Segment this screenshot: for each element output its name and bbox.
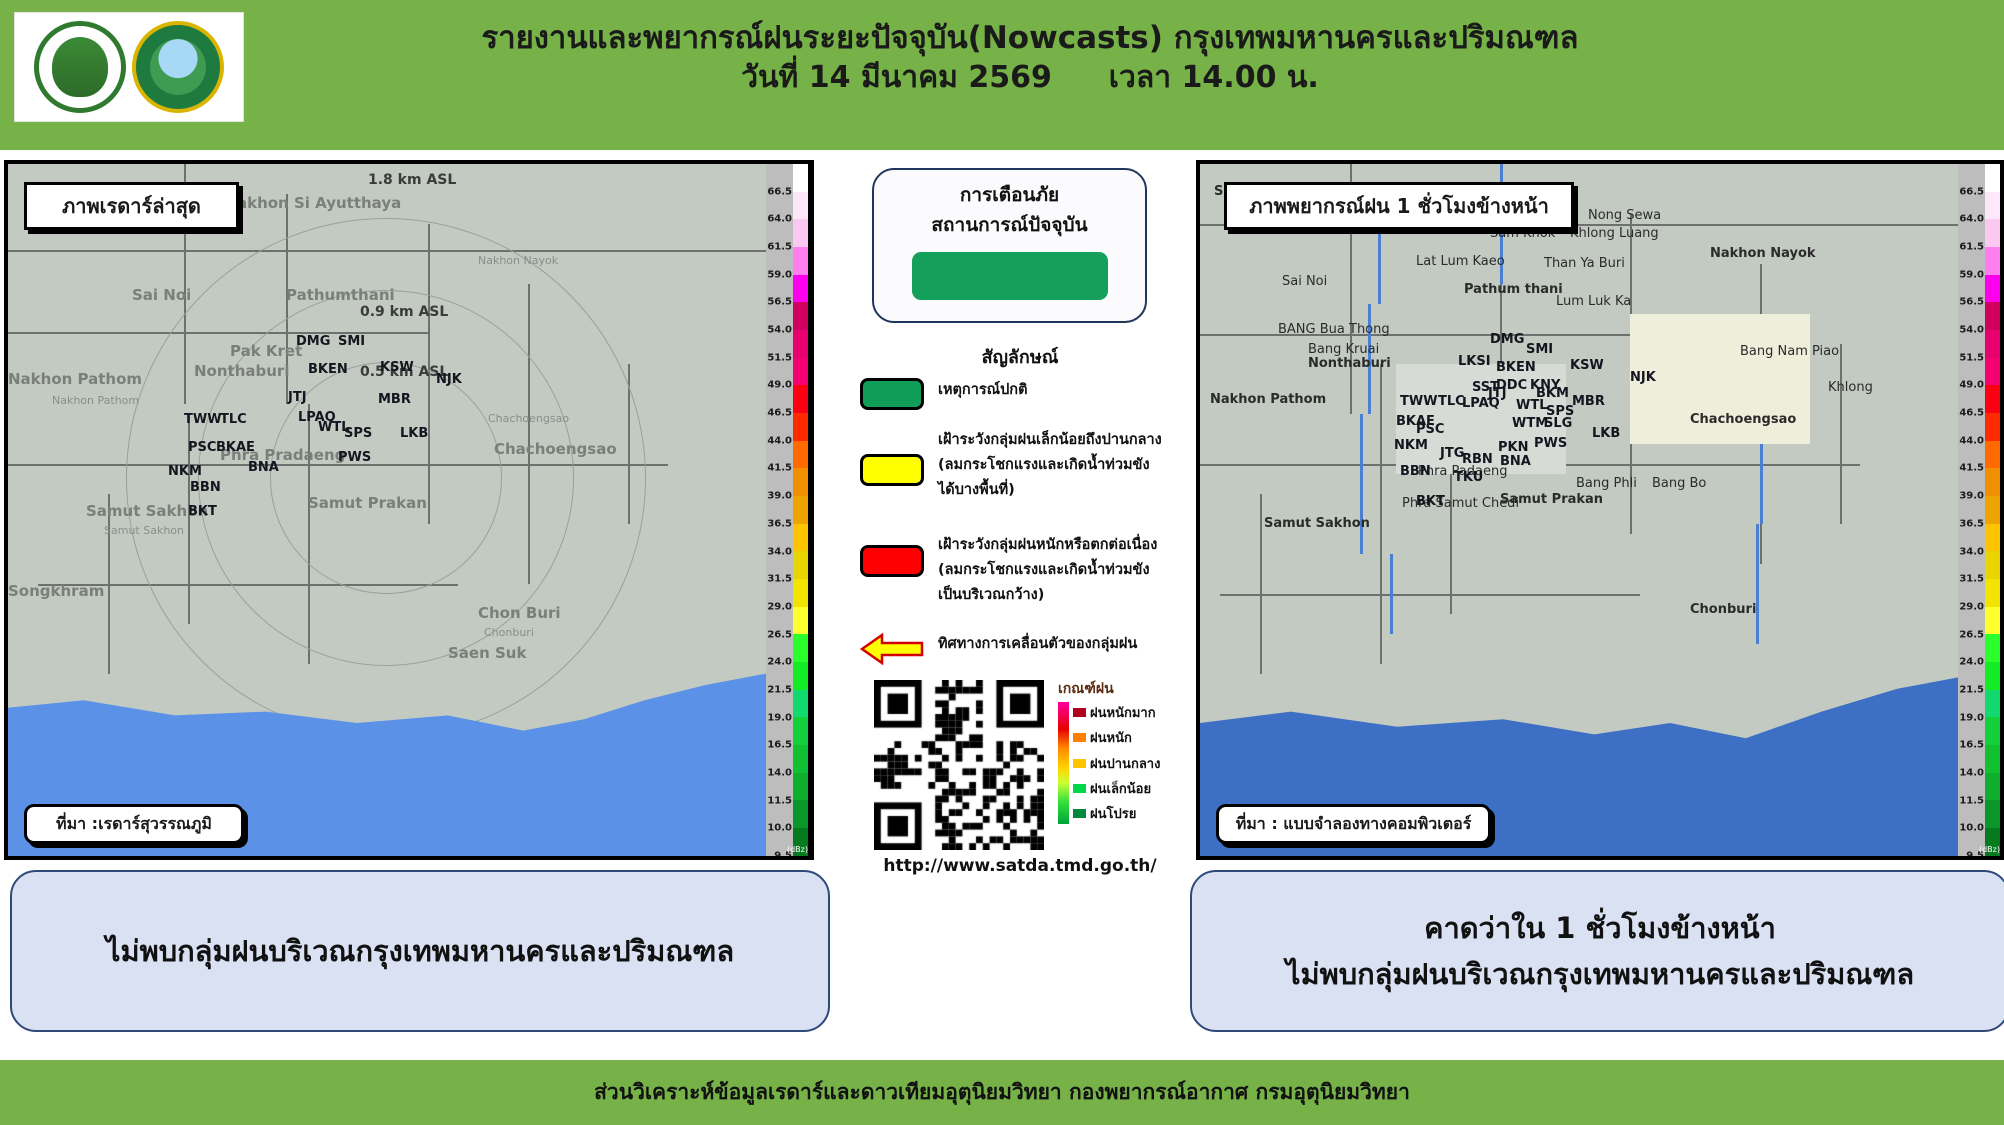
station-bkt: BKT	[188, 504, 217, 519]
place-bang-nam-piao: Bang Nam Piao	[1740, 344, 1839, 359]
legend-item-normal: เหตุการณ์ปกติ	[860, 378, 1190, 410]
station-mbr: MBR	[378, 392, 411, 407]
station-nkm: NKM	[168, 464, 202, 479]
place-songkhram: Songkhram	[8, 582, 104, 600]
royal-seal-icon	[34, 21, 126, 113]
legend-swatch-yellow	[860, 454, 924, 486]
rain-scale-label: ฝนเล็กน้อย	[1090, 778, 1151, 799]
radar-colorbar: 66.564.061.559.056.554.051.549.046.544.0…	[766, 164, 810, 856]
place-nonthaburi: Nonthaburi	[194, 362, 289, 380]
forecast-map-panel[interactable]: Suphan Buri Phra Nakhon Si Ayutthaya Non…	[1196, 160, 2004, 860]
place-pathumthani: Pathumthani	[286, 286, 395, 304]
rain-intensity-scale: เกณฑ์ฝน ฝนหนักมากฝนหนักฝนปานกลางฝนเล็กน้…	[1058, 678, 1193, 824]
station-jtg-f: JTG	[1440, 446, 1464, 461]
place-bang-phli: Bang Phli	[1576, 476, 1637, 491]
rain-scale-swatch	[1073, 733, 1086, 742]
rain-scale-label: ฝนโปรย	[1090, 803, 1136, 824]
place-pathum-thani-f: Pathum thani	[1464, 282, 1563, 297]
radar-map-panel[interactable]: 1.8 km ASL 0.9 km ASL 0.5 km ASL Suphan …	[4, 160, 814, 860]
station-jtj: JTJ	[288, 390, 307, 405]
station-slg-f: SLG	[1544, 416, 1572, 431]
radar-caption-text: ไม่พบกลุ่มฝนบริเวณกรุงเทพมหานครและปริมณฑ…	[106, 928, 734, 974]
place-samut-sakhon-f: Samut Sakhon	[1264, 516, 1370, 531]
station-bkt-f: BKT	[1416, 494, 1445, 509]
page-title-line1: รายงานและพยากรณ์ฝนระยะปัจจุบัน(Nowcasts)…	[330, 18, 1730, 58]
legend-title: สัญลักษณ์	[850, 342, 1190, 371]
warning-status-box: การเตือนภัย สถานการณ์ปัจจุบัน	[872, 168, 1147, 323]
forecast-caption-line2: ไม่พบกลุ่มฝนบริเวณกรุงเทพมหานครและปริมณฑ…	[1286, 951, 1914, 997]
forecast-colorbar: 66.564.061.559.056.554.051.549.046.544.0…	[1958, 164, 2002, 856]
place-sai-noi: Sai Noi	[132, 286, 191, 304]
station-tww: TWW	[184, 412, 222, 427]
rain-scale-item: ฝนหนักมาก	[1073, 702, 1160, 723]
place-bang-bo: Bang Bo	[1652, 476, 1706, 491]
forecast-source-label: ที่มา : แบบจำลองทางคอมพิวเตอร์	[1216, 804, 1491, 844]
station-psc-f: PSC	[1416, 422, 1444, 437]
legend-label-normal: เหตุการณ์ปกติ	[938, 378, 1028, 410]
rain-scale-label: ฝนปานกลาง	[1090, 753, 1160, 774]
station-bbn: BBN	[190, 480, 221, 495]
place-bang-kruai: Bang Kruai	[1308, 342, 1379, 357]
rain-scale-gradient	[1058, 702, 1069, 824]
station-bna-f: BNA	[1500, 454, 1531, 469]
center-legend-column: การเตือนภัย สถานการณ์ปัจจุบัน สัญลักษณ์ …	[850, 150, 1190, 1060]
legend-label-heavy: เฝ้าระวังกลุ่มฝนหนักหรือตกต่อเนื่อง(ลมกร…	[938, 533, 1157, 608]
station-smi: SMI	[338, 334, 365, 349]
place-chon-buri: Chon Buri	[478, 604, 561, 622]
station-bna: BNA	[248, 460, 279, 475]
station-sps: SPS	[344, 426, 372, 441]
place-chonburi-f: Chonburi	[1690, 602, 1756, 617]
place-bang-bua-thong: BANG Bua Thong	[1278, 322, 1390, 337]
station-tww-f: TWW	[1400, 394, 1438, 409]
station-sst-f: SST	[1472, 380, 1499, 395]
place-lum-luk-ka: Lum Luk Ka	[1556, 294, 1631, 309]
legend-label-direction: ทิศทางการเคลื่อนตัวของกลุ่มฝน	[938, 632, 1137, 666]
rain-scale-swatch	[1073, 784, 1086, 793]
place-nakhon-pathom-f: Nakhon Pathom	[1210, 392, 1326, 407]
qr-code[interactable]	[874, 680, 1044, 850]
colorbar-unit: (dBz)	[787, 845, 808, 854]
forecast-caption-line1: คาดว่าใน 1 ชั่วโมงข้างหน้า	[1424, 905, 1776, 951]
place-nong-sewa: Nong Sewa	[1588, 208, 1661, 223]
radar-source-label: ที่มา :เรดาร์สุวรรณภูมิ	[24, 804, 244, 844]
colorbar-tick-labels: 66.564.061.559.056.554.051.549.046.544.0…	[766, 164, 793, 856]
legend-item-direction: ทิศทางการเคลื่อนตัวของกลุ่มฝน	[860, 632, 1190, 666]
place-chachengsao: Chachoengsao	[494, 440, 617, 458]
station-pws: PWS	[338, 450, 371, 465]
station-lpaq-f: LPAQ	[1462, 396, 1500, 411]
station-lksi-f: LKSI	[1458, 354, 1491, 369]
place-nonthaburi-f: Nonthaburi	[1308, 356, 1391, 371]
rain-scale-items: ฝนหนักมากฝนหนักฝนปานกลางฝนเล็กน้อยฝนโปรย	[1073, 702, 1160, 824]
altitude-label-2: 0.9 km ASL	[360, 304, 448, 320]
tmd-seal-icon	[132, 21, 224, 113]
station-psc: BKAE	[216, 440, 255, 455]
page-header: รายงานและพยากรณ์ฝนระยะปัจจุบัน(Nowcasts)…	[0, 0, 2004, 150]
place-chachoengsao-sm: Chachoengsao	[488, 412, 569, 425]
forecast-caption: คาดว่าใน 1 ชั่วโมงข้างหน้า ไม่พบกลุ่มฝนบ…	[1190, 870, 2004, 1032]
legend-swatch-red	[860, 545, 924, 577]
place-nakhon-pathom: Nakhon Pathom	[52, 394, 139, 407]
forecast-panel-title: ภาพพยากรณ์ฝน 1 ชั่วโมงข้างหน้า	[1224, 182, 1574, 230]
station-ksw: KSW	[380, 360, 414, 375]
rain-scale-label: ฝนหนักมาก	[1090, 702, 1156, 723]
place-samut-prakan: Samut Prakan	[308, 494, 427, 512]
legend-item-light-moderate: เฝ้าระวังกลุ่มฝนเล็กน้อยถึงปานกลาง(ลมกระ…	[860, 428, 1190, 503]
place-lat-lum-kaeo: Lat Lum Kaeo	[1416, 254, 1505, 269]
agency-logo	[14, 12, 244, 122]
report-time: เวลา 14.00 น.	[1109, 60, 1319, 95]
website-url[interactable]: http://www.satda.tmd.go.th/	[850, 856, 1190, 876]
station-njk-f: NJK	[1630, 370, 1656, 385]
qr-code-canvas	[874, 680, 1044, 850]
station-dmg-f: DMG	[1490, 332, 1524, 347]
place-sai-noi-f: Sai Noi	[1282, 274, 1327, 289]
colorbar-gradient	[793, 164, 808, 856]
station-lkb: LKB	[400, 426, 428, 441]
station-tlc: TLC	[220, 412, 247, 427]
rain-scale-swatch	[1073, 708, 1086, 717]
place-khlong-luang: Khlong Luang	[1570, 226, 1659, 241]
warning-title-line2: สถานการณ์ปัจจุบัน	[931, 210, 1087, 240]
place-than-ya-buri: Than Ya Buri	[1544, 256, 1625, 271]
warning-title-line1: การเตือนภัย	[960, 180, 1059, 210]
station-pkn-f: PKN	[1498, 440, 1528, 455]
station-lkb-f: LKB	[1592, 426, 1620, 441]
place-chachoengsao-f: Chachoengsao	[1690, 412, 1796, 427]
rain-scale-swatch	[1073, 809, 1086, 818]
place-samut-sakhon: Samut Sakhon	[104, 524, 184, 537]
rain-scale-item: ฝนเล็กน้อย	[1073, 778, 1160, 799]
station-bken-f: BKEN	[1496, 360, 1536, 375]
station-smi-f: SMI	[1526, 342, 1553, 357]
rain-scale-label: ฝนหนัก	[1090, 727, 1132, 748]
station-bbn-f: BBN	[1400, 464, 1431, 479]
rain-scale-item: ฝนโปรย	[1073, 803, 1160, 824]
footer-text: ส่วนวิเคราะห์ข้อมูลเรดาร์และดาวเทียมอุตุ…	[594, 1076, 1410, 1109]
place-chonburi-sm: Chonburi	[484, 626, 534, 639]
station-bkm-f: BKM	[1536, 386, 1569, 401]
station-wtm-f: WTM	[1512, 416, 1548, 431]
radar-panel-title: ภาพเรดาร์ล่าสุด	[24, 182, 239, 230]
warning-status-badge	[912, 252, 1108, 300]
place-saen-suk: Saen Suk	[448, 644, 526, 662]
rain-scale-swatch	[1073, 759, 1086, 768]
station-bkae: PSC	[188, 440, 216, 455]
main-content: 1.8 km ASL 0.9 km ASL 0.5 km ASL Suphan …	[0, 150, 2004, 1060]
legend-item-heavy: เฝ้าระวังกลุ่มฝนหนักหรือตกต่อเนื่อง(ลมกร…	[860, 533, 1190, 608]
radar-map-canvas: 1.8 km ASL 0.9 km ASL 0.5 km ASL Suphan …	[8, 164, 766, 856]
place-pak-kret: Pak Kret	[230, 342, 302, 360]
radar-caption: ไม่พบกลุ่มฝนบริเวณกรุงเทพมหานครและปริมณฑ…	[10, 870, 830, 1032]
altitude-label-1: 1.8 km ASL	[368, 172, 456, 188]
station-mbr-f: MBR	[1572, 394, 1605, 409]
colorbar-gradient-forecast	[1985, 164, 2000, 856]
legend-label-light-moderate: เฝ้าระวังกลุ่มฝนเล็กน้อยถึงปานกลาง(ลมกระ…	[938, 428, 1162, 503]
place-nakhon-nayok: Nakhon Nayok	[478, 254, 558, 267]
report-date: วันที่ 14 มีนาคม 2569	[741, 60, 1052, 95]
place-khlong-f: Khlong	[1828, 380, 1873, 395]
place-nakhon-nayok-f: Nakhon Nayok	[1710, 246, 1816, 261]
page-title-line2: วันที่ 14 มีนาคม 2569 เวลา 14.00 น.	[330, 58, 1730, 98]
station-nkm-f: NKM	[1394, 438, 1428, 453]
station-ddc-f: DDC	[1496, 378, 1527, 393]
rain-scale-title: เกณฑ์ฝน	[1058, 678, 1193, 700]
arrow-left-icon	[860, 632, 924, 666]
rain-scale-item: ฝนหนัก	[1073, 727, 1160, 748]
station-dmg: DMG	[296, 334, 330, 349]
place-nakhon-pathom-lg: Nakhon Pathom	[8, 370, 142, 388]
legend-swatch-green	[860, 378, 924, 410]
colorbar-unit-forecast: (dBz)	[1979, 845, 2000, 854]
station-tlc-f: TLC	[1438, 394, 1465, 409]
station-njk: NJK	[436, 372, 462, 387]
station-pws-f: PWS	[1534, 436, 1567, 451]
forecast-map-canvas: Suphan Buri Phra Nakhon Si Ayutthaya Non…	[1200, 164, 1958, 856]
station-bken: BKEN	[308, 362, 348, 377]
colorbar-tick-labels-forecast: 66.564.061.559.056.554.051.549.046.544.0…	[1958, 164, 1985, 856]
station-tku-f: TKU	[1454, 470, 1483, 485]
page-footer: ส่วนวิเคราะห์ข้อมูลเรดาร์และดาวเทียมอุตุ…	[0, 1060, 2004, 1125]
page-title: รายงานและพยากรณ์ฝนระยะปัจจุบัน(Nowcasts)…	[330, 18, 1730, 98]
rain-scale-item: ฝนปานกลาง	[1073, 753, 1160, 774]
station-rbn-f: RBN	[1462, 452, 1493, 467]
station-ksw-f: KSW	[1570, 358, 1604, 373]
